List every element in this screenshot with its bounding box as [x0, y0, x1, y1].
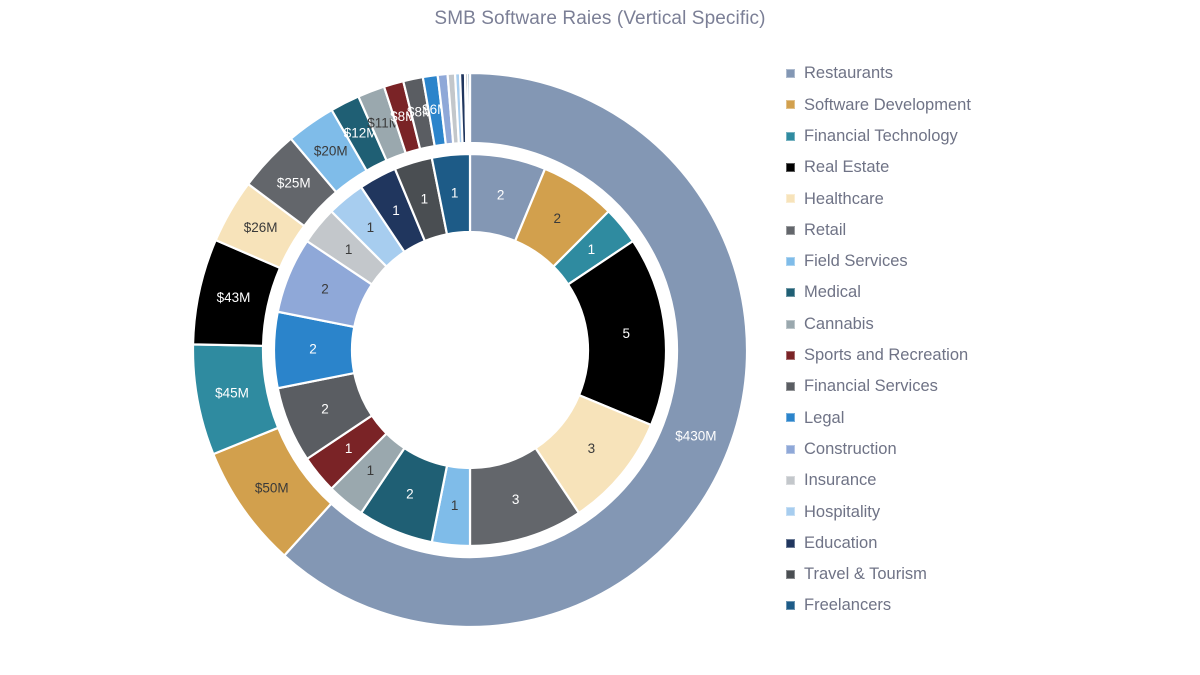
legend-swatch-icon [786, 100, 795, 109]
legend-item-label: Medical [804, 284, 861, 301]
legend-swatch-icon [786, 226, 795, 235]
legend-swatch-icon [786, 132, 795, 141]
legend-item-label: Financial Services [804, 378, 938, 395]
legend-item-label: Field Services [804, 253, 908, 270]
inner-ring-slice-label: 1 [588, 242, 596, 257]
legend-item[interactable]: Financial Services [786, 371, 1186, 402]
inner-ring-slice-label: 1 [345, 242, 353, 257]
legend-swatch-icon [786, 570, 795, 579]
legend-swatch-icon [786, 507, 795, 516]
legend-item[interactable]: Real Estate [786, 152, 1186, 183]
legend-item-label: Construction [804, 441, 897, 458]
inner-ring-slice-label: 1 [421, 191, 429, 206]
inner-ring-slice-label: 1 [451, 185, 459, 200]
legend-swatch-icon [786, 601, 795, 610]
legend-swatch-icon [786, 382, 795, 391]
donut-svg: $430M$50M$45M$43M$26M$25M$20M$12M$11M$8M… [180, 60, 760, 640]
legend-item-label: Legal [804, 410, 844, 427]
legend-item-label: Freelancers [804, 597, 891, 614]
inner-ring-slice-label: 2 [406, 487, 414, 502]
inner-ring-slice-label: 3 [512, 492, 520, 507]
legend-item-label: Cannabis [804, 316, 874, 333]
legend-swatch-icon [786, 445, 795, 454]
legend-swatch-icon [786, 69, 795, 78]
legend-item-label: Hospitality [804, 504, 880, 521]
legend-item[interactable]: Travel & Tourism [786, 559, 1186, 590]
outer-ring-slice-label: $430M [675, 428, 716, 443]
legend-item-label: Education [804, 535, 877, 552]
inner-ring-slice-label: 1 [367, 220, 375, 235]
legend-item[interactable]: Restaurants [786, 58, 1186, 89]
legend-swatch-icon [786, 351, 795, 360]
chart-legend: RestaurantsSoftware DevelopmentFinancial… [786, 58, 1186, 621]
legend-item[interactable]: Sports and Recreation [786, 340, 1186, 371]
inner-ring-slice-label: 2 [309, 342, 317, 357]
outer-ring-slice-label: $25M [277, 176, 311, 191]
legend-swatch-icon [786, 194, 795, 203]
legend-item[interactable]: Retail [786, 214, 1186, 245]
inner-ring-slice-label: 2 [321, 402, 329, 417]
legend-item[interactable]: Legal [786, 402, 1186, 433]
legend-item-label: Financial Technology [804, 128, 958, 145]
outer-ring-slice-label: $43M [217, 290, 251, 305]
pie-slice[interactable] [468, 73, 470, 143]
legend-item-label: Retail [804, 222, 846, 239]
outer-ring-slice-label: $45M [215, 385, 249, 400]
legend-item-label: Restaurants [804, 65, 893, 82]
legend-swatch-icon [786, 288, 795, 297]
legend-item-label: Insurance [804, 472, 876, 489]
legend-item-label: Software Development [804, 97, 971, 114]
inner-ring-slice-label: 1 [392, 203, 400, 218]
legend-item[interactable]: Field Services [786, 246, 1186, 277]
legend-item[interactable]: Freelancers [786, 590, 1186, 621]
outer-ring-slice-label: $20M [314, 144, 348, 159]
chart-title: SMB Software Raies (Vertical Specific) [0, 8, 1200, 30]
legend-item[interactable]: Healthcare [786, 183, 1186, 214]
donut-chart: $430M$50M$45M$43M$26M$25M$20M$12M$11M$8M… [180, 60, 760, 640]
legend-item-label: Real Estate [804, 159, 889, 176]
inner-ring-slice-label: 1 [451, 498, 459, 513]
inner-ring-slice-label: 2 [497, 188, 505, 203]
legend-item[interactable]: Insurance [786, 465, 1186, 496]
legend-swatch-icon [786, 476, 795, 485]
legend-item[interactable]: Hospitality [786, 496, 1186, 527]
legend-item-label: Healthcare [804, 191, 884, 208]
legend-swatch-icon [786, 539, 795, 548]
legend-item-label: Sports and Recreation [804, 347, 968, 364]
outer-ring-slice-label: $50M [255, 480, 289, 495]
legend-item[interactable]: Software Development [786, 89, 1186, 120]
inner-ring-slice-label: 3 [588, 441, 596, 456]
inner-ring-slice-label: 2 [321, 281, 329, 296]
inner-ring-slice-label: 2 [553, 211, 561, 226]
legend-item[interactable]: Cannabis [786, 308, 1186, 339]
inner-ring-slice-label: 1 [345, 441, 353, 456]
inner-ring: 221533121122211111 [274, 154, 666, 546]
legend-swatch-icon [786, 320, 795, 329]
legend-swatch-icon [786, 413, 795, 422]
legend-item[interactable]: Education [786, 527, 1186, 558]
legend-item[interactable]: Construction [786, 434, 1186, 465]
legend-item[interactable]: Medical [786, 277, 1186, 308]
legend-item[interactable]: Financial Technology [786, 121, 1186, 152]
outer-ring-slice-label: $26M [244, 220, 278, 235]
inner-ring-slice-label: 1 [367, 463, 375, 478]
legend-item-label: Travel & Tourism [804, 566, 927, 583]
legend-swatch-icon [786, 163, 795, 172]
legend-swatch-icon [786, 257, 795, 266]
inner-ring-slice-label: 5 [622, 326, 630, 341]
